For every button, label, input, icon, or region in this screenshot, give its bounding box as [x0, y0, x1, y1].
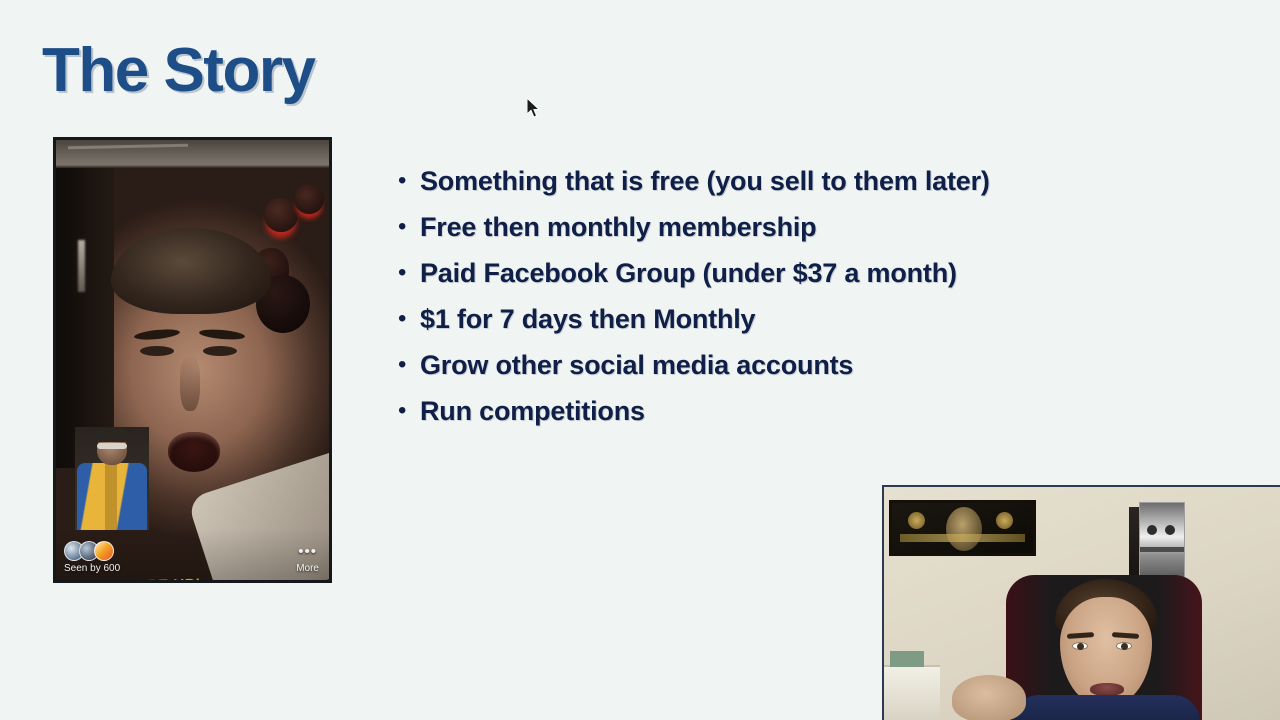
bullet-marker-icon: • [398, 261, 420, 285]
instagram-story-screenshot: SWIPE UP! Seen by 600 ••• More [53, 137, 332, 583]
page-title: The Story [42, 38, 314, 103]
list-item: • Something that is free (you sell to th… [398, 166, 1118, 212]
presenter-pupil-left [1077, 643, 1084, 650]
story-seen-by-label: Seen by 600 [64, 563, 120, 574]
list-item-label: $1 for 7 days then Monthly [420, 304, 755, 335]
presenter-webcam-overlay [882, 485, 1280, 720]
presentation-slide: The Story SWIPE UP! [0, 0, 1280, 720]
inset-person-cap [93, 429, 131, 442]
bullet-marker-icon: • [398, 169, 420, 193]
list-item-label: Free then monthly membership [420, 212, 816, 243]
story-red-lamp-icon [294, 184, 324, 214]
story-more-button[interactable]: ••• More [296, 547, 319, 574]
story-doorway [56, 168, 114, 468]
inset-person-glasses-icon [97, 443, 127, 449]
story-ceiling-band [56, 140, 329, 168]
story-subject-nose [180, 355, 200, 411]
bullet-marker-icon: • [398, 307, 420, 331]
story-viewer-avatars [64, 541, 120, 561]
story-red-lamp-icon [264, 198, 298, 232]
more-dots-icon: ••• [296, 547, 319, 557]
list-item: • Free then monthly membership [398, 212, 1118, 258]
bullet-marker-icon: • [398, 399, 420, 423]
mouse-cursor-icon [527, 98, 541, 118]
list-item: • Grow other social media accounts [398, 350, 1118, 396]
story-subject-eye-right [203, 346, 237, 356]
framed-dollar-bill-art [889, 500, 1036, 556]
story-more-label: More [296, 563, 319, 574]
inset-yellow-jacket [77, 463, 147, 530]
list-item: • Paid Facebook Group (under $37 a month… [398, 258, 1118, 304]
list-item-label: Run competitions [420, 396, 645, 427]
presenter-hand [952, 675, 1026, 720]
story-subject-mouth [168, 432, 220, 472]
story-door-light [78, 240, 85, 292]
framed-jet-photo [1139, 502, 1185, 579]
webcam-desk-edge [884, 665, 940, 720]
list-item-label: Paid Facebook Group (under $37 a month) [420, 258, 957, 289]
bullet-marker-icon: • [398, 353, 420, 377]
list-item: • $1 for 7 days then Monthly [398, 304, 1118, 350]
dollar-seal-icon [908, 512, 925, 529]
story-inset-clip [75, 427, 149, 530]
story-bottom-toolbar: Seen by 600 ••• More [56, 528, 329, 580]
story-subject-eye-left [140, 346, 174, 356]
avatar [94, 541, 114, 561]
list-item-label: Grow other social media accounts [420, 350, 853, 381]
story-seen-by-group[interactable]: Seen by 600 [64, 541, 120, 574]
list-item-label: Something that is free (you sell to them… [420, 166, 990, 197]
list-item: • Run competitions [398, 396, 1118, 442]
presenter-navy-tshirt [1012, 695, 1200, 720]
presenter-pupil-right [1121, 643, 1128, 650]
dollar-seal-icon [996, 512, 1013, 529]
bullet-marker-icon: • [398, 215, 420, 239]
bullet-list: • Something that is free (you sell to th… [398, 166, 1118, 442]
